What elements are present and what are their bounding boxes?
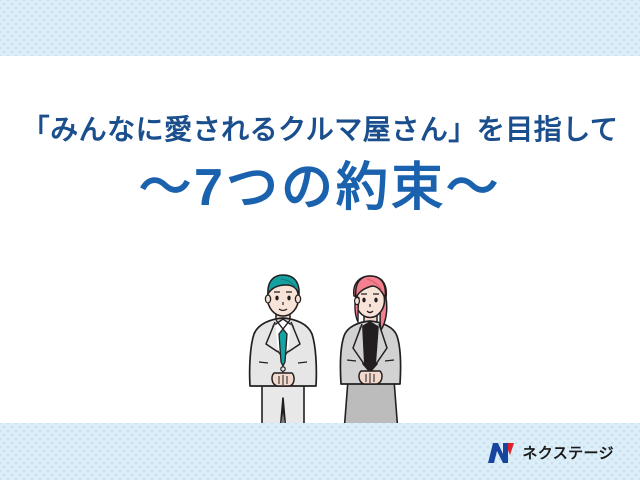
male-eye-left [275,296,278,301]
top-dot-band [0,0,640,56]
nextage-n-mark-icon [487,442,515,464]
n-mark-red-shape [508,443,514,455]
female-ear-left [355,297,360,304]
female-staff-figure [340,276,400,432]
female-eye-left [362,298,365,303]
nextage-n-mark-svg [487,442,515,464]
headline-line-1: 「みんなに愛されるクルマ屋さん」を目指して [0,112,640,147]
headline-block: 「みんなに愛されるクルマ屋さん」を目指して ～7つの約束～ [0,112,640,219]
female-eye-right [374,298,377,303]
male-ear-left [265,295,270,303]
promise-banner: 「みんなに愛されるクルマ屋さん」を目指して ～7つの約束～ [0,0,640,480]
staff-illustration-svg [236,272,426,432]
male-jacket-button [281,367,285,371]
brand-logo: ネクステージ [487,440,614,466]
male-ear-right [295,295,300,303]
headline-line-2: ～7つの約束～ [0,159,640,219]
male-staff-figure [250,275,317,432]
staff-illustration [236,272,426,432]
n-mark-blue-shape [488,443,508,463]
brand-wordmark: ネクステージ [522,446,614,461]
male-eye-right [287,296,290,301]
